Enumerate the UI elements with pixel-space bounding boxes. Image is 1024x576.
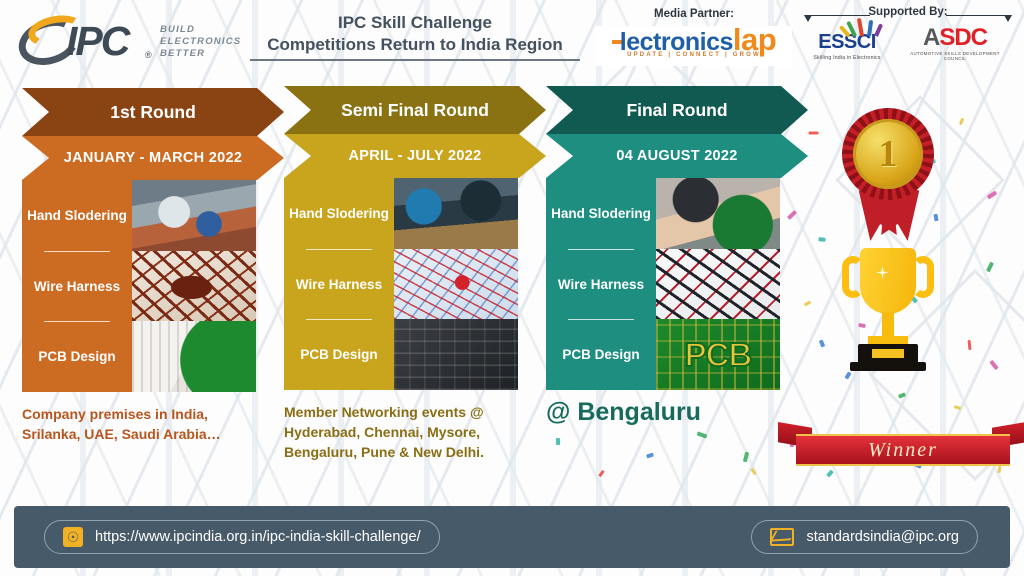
round-final: Final Round 04 AUGUST 2022 Hand Sloderin… [546, 86, 808, 427]
round-1st-caption: Company premises in India, Srilanka, UAE… [22, 404, 284, 444]
round-final-title: Final Round [626, 100, 727, 121]
round-semi-final-title: Semi Final Round [341, 100, 489, 121]
round-semi-final-dates-banner: APRIL - JULY 2022 [284, 134, 546, 178]
round-semi-final-dates: APRIL - JULY 2022 [349, 148, 482, 164]
ipc-registered-mark: ® [145, 50, 152, 60]
round-final-caption-line1: @ Bengaluru [546, 398, 701, 426]
supported-by-rule-left [808, 15, 870, 16]
category-hand-soldering: Hand Slodering [22, 180, 132, 251]
supported-by-arrow-right-icon [1004, 15, 1012, 22]
ipc-tagline-line3: BETTER [160, 48, 241, 60]
winner-banner: Winner [778, 422, 1024, 474]
ipc-tagline: BUILD ELECTRONICS BETTER [160, 24, 241, 60]
round-semi-final-title-banner: Semi Final Round [284, 86, 546, 134]
round-1st-categories: Hand Slodering Wire Harness PCB Design [22, 180, 132, 392]
round-semi-final-caption: Member Networking events @ Hyderabad, Ch… [284, 402, 546, 462]
photo-hand-soldering [394, 178, 518, 249]
round-final-categories: Hand Slodering Wire Harness PCB Design [546, 178, 656, 390]
page-title: IPC Skill Challenge Competitions Return … [250, 12, 580, 61]
round-final-title-banner: Final Round [546, 86, 808, 134]
trophy-base-bottom [850, 362, 926, 371]
poster-root: IPC ® BUILD ELECTRONICS BETTER IPC Skill… [0, 0, 1024, 576]
supported-by-rule-right [946, 15, 1008, 16]
banner-body: Winner [796, 434, 1010, 466]
photo-hand-soldering [132, 180, 256, 251]
supported-by-label: Supported By: [800, 6, 1016, 18]
asdc-subtitle: AUTOMOTIVE SKILLS DEVELOPMENT COUNCIL [901, 51, 1009, 61]
round-1st-dates-banner: JANUARY - MARCH 2022 [22, 136, 284, 180]
round-1st-dates: JANUARY - MARCH 2022 [64, 150, 242, 166]
trophy-icon [838, 248, 938, 378]
essci-fan-icon [847, 18, 883, 36]
gold-medal-icon: 1 [842, 108, 934, 200]
title-line-1: IPC Skill Challenge [250, 12, 580, 34]
title-line-2: Competitions Return to India Region [250, 34, 580, 56]
category-wire-harness: Wire Harness [546, 249, 656, 320]
round-1st-title: 1st Round [110, 102, 196, 123]
category-wire-harness: Wire Harness [284, 249, 394, 320]
round-1st: 1st Round JANUARY - MARCH 2022 Hand Slod… [22, 88, 284, 444]
photo-pcb-design: PCB [656, 319, 780, 390]
asdc-wordmark: ASDC [901, 26, 1009, 50]
website-url: https://www.ipcindia.org.in/ipc-india-sk… [95, 529, 421, 545]
photo-wire-harness [394, 249, 518, 320]
media-partner-label: Media Partner: [596, 8, 792, 20]
media-partner-block: Media Partner: lectronicslap UPDATE | CO… [596, 8, 792, 66]
confetti-piece [556, 438, 560, 445]
round-final-dates: 04 AUGUST 2022 [616, 148, 737, 164]
round-semi-final-caption-line2: Hyderabad, Chennai, Mysore, [284, 422, 546, 442]
round-1st-photos [132, 180, 256, 392]
round-final-panel: Hand Slodering Wire Harness PCB Design P… [546, 178, 808, 390]
essci-logo: ESSCI Skilling India in Electronics [807, 31, 887, 61]
round-semi-final-photos [394, 178, 518, 390]
asdc-letters-sdc: SDC [939, 24, 987, 51]
ipc-tagline-line1: BUILD [160, 24, 241, 36]
asdc-letter-a: A [923, 24, 939, 51]
photo-pcb-design [132, 321, 256, 392]
category-hand-soldering: Hand Slodering [284, 178, 394, 249]
electronics-clap-logo: lectronicslap UPDATE | CONNECT | GROW [596, 26, 792, 66]
photo-wire-harness [132, 251, 256, 322]
round-1st-caption-line1: Company premises in India, [22, 404, 284, 424]
category-pcb-design: PCB Design [546, 319, 656, 390]
supported-by-arrow-left-icon [804, 15, 812, 22]
trophy-cup [860, 248, 916, 314]
round-final-dates-banner: 04 AUGUST 2022 [546, 134, 808, 178]
photo-wire-harness [656, 249, 780, 320]
ipc-tagline-line2: ELECTRONICS [160, 36, 241, 48]
mail-icon [770, 528, 794, 546]
round-1st-title-banner: 1st Round [22, 88, 284, 136]
category-pcb-design: PCB Design [284, 319, 394, 390]
round-semi-final-categories: Hand Slodering Wire Harness PCB Design [284, 178, 394, 390]
essci-subtitle: Skilling India in Electronics [807, 55, 887, 61]
round-1st-caption-line2: Srilanka, UAE, Saudi Arabia… [22, 424, 284, 444]
asdc-logo: ASDC AUTOMOTIVE SKILLS DEVELOPMENT COUNC… [901, 26, 1009, 61]
round-semi-final-caption-line1: Member Networking events @ [284, 402, 546, 422]
round-semi-final-panel: Hand Slodering Wire Harness PCB Design [284, 178, 546, 390]
trophy-base-plate [872, 349, 904, 358]
photo-pcb-design [394, 319, 518, 390]
photo-hand-soldering [656, 178, 780, 249]
round-1st-panel: Hand Slodering Wire Harness PCB Design [22, 180, 284, 392]
pcb-label: PCB [685, 336, 752, 374]
round-semi-final-caption-line3: Bengaluru, Pune & New Delhi. [284, 442, 546, 462]
supported-by-block: Supported By: ESSCI Skilling India in El… [800, 6, 1016, 18]
medal-number: 1 [879, 132, 898, 176]
email-address: standardsindia@ipc.org [806, 529, 959, 545]
ipc-wordmark: IPC [66, 18, 128, 65]
medal-face: 1 [853, 119, 923, 189]
category-wire-harness: Wire Harness [22, 251, 132, 322]
title-underline [250, 59, 580, 61]
round-final-caption: @ Bengaluru [546, 398, 808, 427]
winner-illustration: 1 Winner [790, 100, 1024, 490]
footer-bar: ☉ https://www.ipcindia.org.in/ipc-india-… [14, 506, 1010, 568]
email-link[interactable]: standardsindia@ipc.org [751, 520, 978, 554]
header: IPC ® BUILD ELECTRONICS BETTER IPC Skill… [0, 0, 1024, 82]
website-link[interactable]: ☉ https://www.ipcindia.org.in/ipc-india-… [44, 520, 440, 554]
globe-icon: ☉ [63, 527, 83, 547]
ipc-logo: IPC ® BUILD ELECTRONICS BETTER [14, 14, 244, 68]
supporter-logos: ESSCI Skilling India in Electronics ASDC… [800, 26, 1016, 61]
category-pcb-design: PCB Design [22, 321, 132, 392]
round-final-photos: PCB [656, 178, 780, 390]
round-semi-final: Semi Final Round APRIL - JULY 2022 Hand … [284, 86, 546, 462]
category-hand-soldering: Hand Slodering [546, 178, 656, 249]
trophy-stem [882, 312, 894, 338]
banner-label: Winner [868, 439, 938, 462]
